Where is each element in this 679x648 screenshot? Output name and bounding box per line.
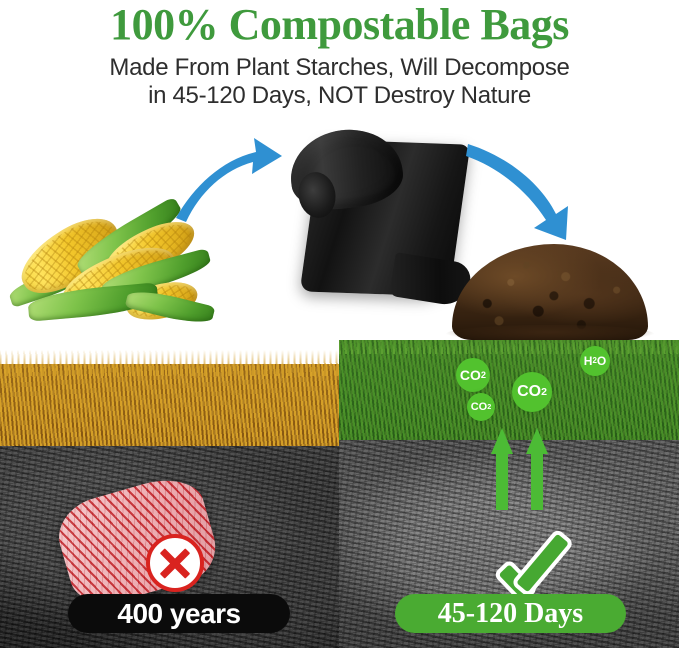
header-section: 100% Compostable Bags Made From Plant St… (0, 0, 679, 122)
infographic-page: 100% Compostable Bags Made From Plant St… (0, 0, 679, 648)
green-check-icon (498, 536, 574, 598)
subtitle-line-1: Made From Plant Starches, Will Decompose (0, 54, 679, 82)
label-45-120-days: 45-120 Days (395, 594, 626, 633)
arrow-corn-to-bag-icon (168, 130, 286, 226)
page-title: 100% Compostable Bags (0, 2, 679, 48)
label-400-years: 400 years (68, 594, 290, 633)
compost-base-shadow (446, 325, 654, 340)
corn-cobs-image (8, 222, 213, 340)
check-long-stroke (516, 534, 569, 593)
red-x-icon (146, 534, 204, 592)
emission-bubble: CO2 (467, 393, 495, 421)
compost-pile-image (452, 232, 648, 340)
dead-grass-layer (0, 364, 339, 448)
subtitle-line-2: in 45-120 Days, NOT Destroy Nature (0, 82, 679, 110)
arrow-shaft (496, 450, 508, 510)
emission-bubble: CO2 (456, 358, 490, 392)
emission-bubble: H2O (580, 346, 610, 376)
process-illustration (0, 122, 679, 340)
decomposition-arrow-right (526, 428, 548, 510)
decomposition-arrow-left (491, 428, 513, 510)
arrow-bag-to-compost-icon (462, 136, 580, 244)
green-grass-layer (339, 340, 679, 440)
emission-bubble: CO2 (512, 372, 552, 412)
arrow-shaft (531, 450, 543, 510)
